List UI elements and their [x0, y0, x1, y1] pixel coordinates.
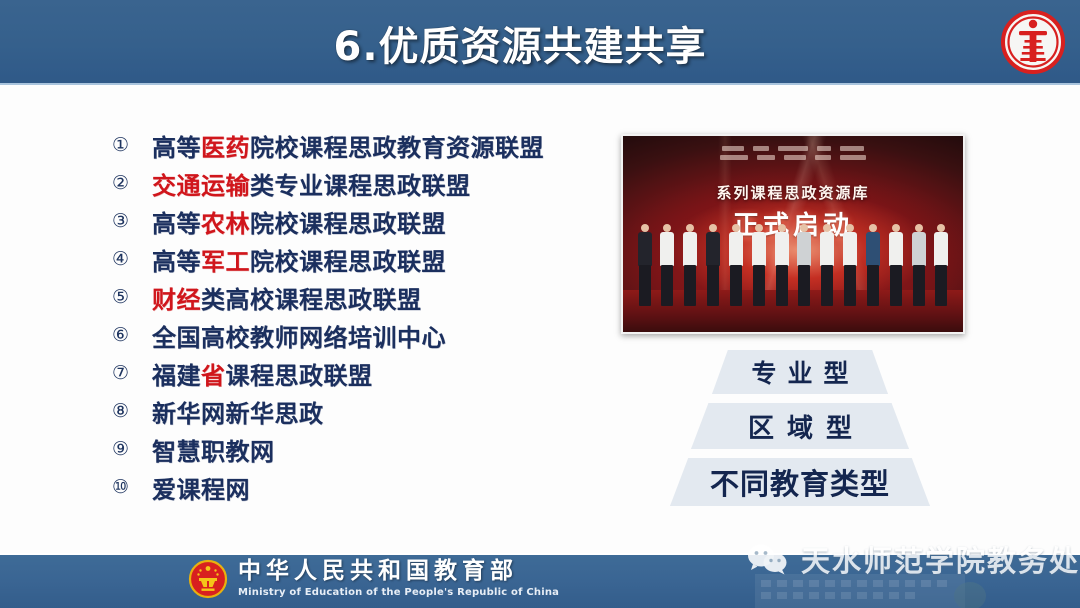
institution-logo: [998, 7, 1068, 77]
list-item: ⑩爱课程网: [112, 468, 612, 506]
list-item-plain: 类专业课程思政联盟: [250, 172, 471, 200]
list-item: ⑦福建省课程思政联盟: [112, 354, 612, 392]
list-item-highlight: 交通运输: [152, 172, 250, 200]
slide-footer: 中华人民共和国教育部 Ministry of Education of the …: [0, 553, 1080, 608]
list-item: ②交通运输类专业课程思政联盟: [112, 164, 612, 202]
list-item-label: 智慧职教网: [152, 432, 275, 467]
list-item-label: 高等军工院校课程思政联盟: [152, 242, 446, 277]
photo-person: [797, 224, 812, 306]
list-item-plain: 高等: [152, 210, 201, 238]
photo-person: [637, 224, 652, 306]
list-item-label: 交通运输类专业课程思政联盟: [152, 166, 471, 201]
list-item-plain: 院校课程思政联盟: [250, 210, 446, 238]
list-item-number: ③: [112, 212, 152, 231]
photo-person: [706, 224, 721, 306]
ministry-brand: 中华人民共和国教育部 Ministry of Education of the …: [188, 559, 559, 599]
list-item-highlight: 医药: [201, 134, 250, 162]
alliance-list: ①高等医药院校课程思政教育资源联盟②交通运输类专业课程思政联盟③高等农林院校课程…: [112, 126, 612, 506]
photo-person: [843, 224, 858, 306]
list-item-number: ②: [112, 174, 152, 193]
list-item-plain: 院校课程思政联盟: [250, 248, 446, 276]
list-item-number: ⑨: [112, 440, 152, 459]
list-item-highlight: 农林: [201, 210, 250, 238]
list-item: ④高等军工院校课程思政联盟: [112, 240, 612, 278]
ministry-name-en: Ministry of Education of the People's Re…: [238, 588, 559, 598]
list-item: ①高等医药院校课程思政教育资源联盟: [112, 126, 612, 164]
list-item-plain: 福建: [152, 362, 201, 390]
list-item: ⑨智慧职教网: [112, 430, 612, 468]
ministry-name-cn: 中华人民共和国教育部: [238, 560, 559, 583]
list-item-number: ⑥: [112, 326, 152, 345]
ministry-text-block: 中华人民共和国教育部 Ministry of Education of the …: [238, 560, 559, 598]
list-item-number: ⑧: [112, 402, 152, 421]
pyramid-tier: 不同教育类型: [670, 458, 930, 506]
list-item-label: 财经类高校课程思政联盟: [152, 280, 422, 315]
list-item-number: ⑤: [112, 288, 152, 307]
list-item-number: ④: [112, 250, 152, 269]
list-item-highlight: 军工: [201, 248, 250, 276]
list-item-label: 高等医药院校课程思政教育资源联盟: [152, 128, 544, 163]
list-item-number: ⑩: [112, 478, 152, 497]
list-item-label: 爱课程网: [152, 470, 250, 505]
list-item-plain: 高等: [152, 134, 201, 162]
photo-person: [934, 224, 949, 306]
list-item-number: ⑦: [112, 364, 152, 383]
slide-canvas: 6.优质资源共建共享 ①高等医药院校课程思政教育资源联盟②交通运输类专业课程思政…: [0, 0, 1080, 608]
list-item-plain: 爱课程网: [152, 476, 250, 504]
list-item: ⑤财经类高校课程思政联盟: [112, 278, 612, 316]
photo-person: [728, 224, 743, 306]
list-item-highlight: 省: [201, 362, 226, 390]
launch-ceremony-photo: 系列课程思政资源库 正式启动: [621, 134, 965, 334]
list-item-plain: 新华网新华思政: [152, 400, 324, 428]
list-item-plain: 类高校课程思政联盟: [201, 286, 422, 314]
list-item-plain: 课程思政联盟: [226, 362, 373, 390]
list-item-highlight: 财经: [152, 286, 201, 314]
photo-people-row: [637, 220, 949, 306]
slide-header: 6.优质资源共建共享: [0, 0, 1080, 85]
photo-person: [911, 224, 926, 306]
list-item-label: 福建省课程思政联盟: [152, 356, 373, 391]
pyramid-tier: 专业型: [712, 350, 888, 394]
national-emblem: [188, 559, 228, 599]
photo-person: [888, 224, 903, 306]
photo-person: [683, 224, 698, 306]
list-item: ③高等农林院校课程思政联盟: [112, 202, 612, 240]
pyramid-tier: 区域型: [691, 403, 909, 449]
pyramid-diagram: 专业型区域型不同教育类型: [640, 350, 960, 515]
photo-banner-glyphs: [623, 146, 963, 160]
list-item-label: 高等农林院校课程思政联盟: [152, 204, 446, 239]
photo-caption-line1: 系列课程思政资源库: [623, 182, 963, 203]
photo-person: [660, 224, 675, 306]
photo-person: [774, 224, 789, 306]
list-item-label: 全国高校教师网络培训中心: [152, 318, 446, 353]
list-item-label: 新华网新华思政: [152, 394, 324, 429]
page-title: 6.优质资源共建共享: [0, 0, 1080, 85]
photo-person: [820, 224, 835, 306]
photo-person: [865, 224, 880, 306]
list-item-plain: 全国高校教师网络培训中心: [152, 324, 446, 352]
list-item-plain: 智慧职教网: [152, 438, 275, 466]
list-item: ⑧新华网新华思政: [112, 392, 612, 430]
list-item-number: ①: [112, 136, 152, 155]
photo-person: [751, 224, 766, 306]
list-item-plain: 院校课程思政教育资源联盟: [250, 134, 544, 162]
list-item-plain: 高等: [152, 248, 201, 276]
list-item: ⑥全国高校教师网络培训中心: [112, 316, 612, 354]
